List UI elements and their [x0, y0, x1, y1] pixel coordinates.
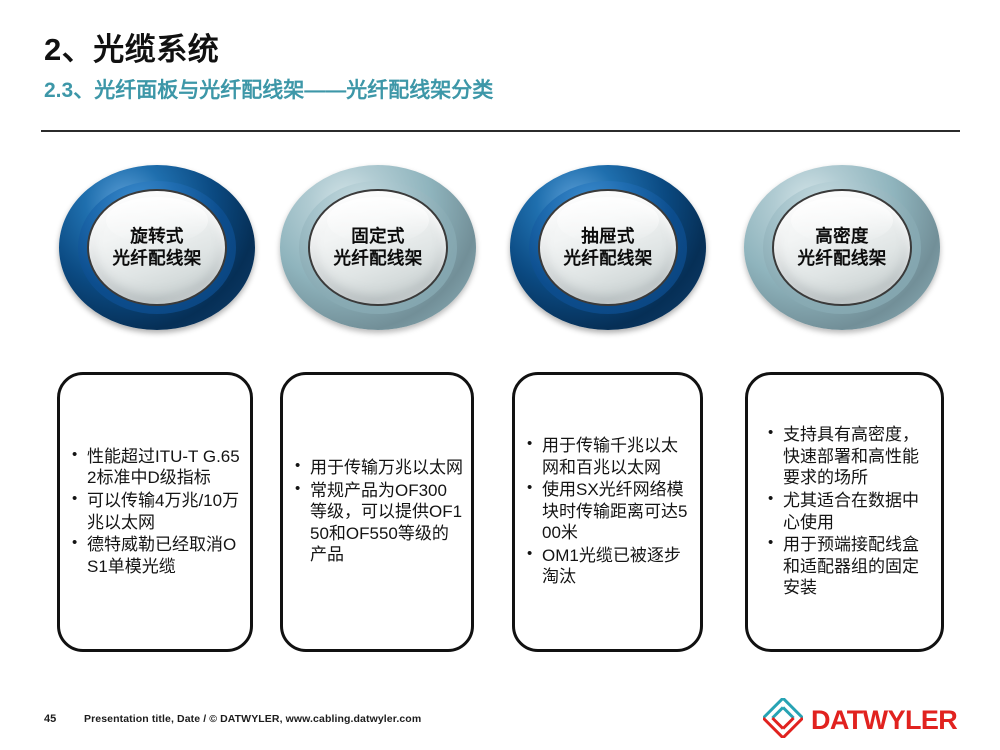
info-box-fixed: 用于传输万兆以太网 常规产品为OF300等级，可以提供OF150和OF550等级… [280, 372, 474, 652]
column-fixed: 固定式 光纤配线架 [278, 165, 478, 330]
column-drawer: 抽屉式 光纤配线架 [508, 165, 708, 330]
list-item: 性能超过ITU-T G.652标准中D级指标 [70, 446, 242, 489]
info-box-high-density: 支持具有高密度，快速部署和高性能要求的场所 尤其适合在数据中心使用 用于预端接配… [745, 372, 944, 652]
list-item: 支持具有高密度，快速部署和高性能要求的场所 [766, 424, 933, 489]
badge-circle-drawer[interactable]: 抽屉式 光纤配线架 [510, 165, 706, 330]
badge-label: 旋转式 光纤配线架 [113, 226, 202, 269]
list-item: OM1光缆已被逐步淘汰 [525, 545, 692, 588]
bullet-list: 用于传输万兆以太网 常规产品为OF300等级，可以提供OF150和OF550等级… [283, 457, 471, 567]
badge-core: 抽屉式 光纤配线架 [538, 189, 677, 306]
list-item: 用于传输千兆以太网和百兆以太网 [525, 435, 692, 478]
info-box-drawer: 用于传输千兆以太网和百兆以太网 使用SX光纤网络模块时传输距离可达500米 OM… [512, 372, 703, 652]
bullet-list: 用于传输千兆以太网和百兆以太网 使用SX光纤网络模块时传输距离可达500米 OM… [515, 435, 700, 589]
bullet-list: 支持具有高密度，快速部署和高性能要求的场所 尤其适合在数据中心使用 用于预端接配… [748, 424, 941, 600]
badge-core: 高密度 光纤配线架 [772, 189, 911, 306]
list-item: 常规产品为OF300等级，可以提供OF150和OF550等级的产品 [293, 480, 463, 566]
badge-core: 固定式 光纤配线架 [308, 189, 447, 306]
datwyler-diamond-icon [763, 698, 803, 743]
list-item: 尤其适合在数据中心使用 [766, 490, 933, 533]
list-item: 德特威勒已经取消OS1单模光缆 [70, 534, 242, 577]
list-item: 可以传输4万兆/10万兆以太网 [70, 490, 242, 533]
badge-core: 旋转式 光纤配线架 [87, 189, 226, 306]
datwyler-logo: DATWYLER [763, 698, 953, 742]
bullet-list: 性能超过ITU-T G.652标准中D级指标 可以传输4万兆/10万兆以太网 德… [60, 446, 250, 578]
badge-circle-rotary[interactable]: 旋转式 光纤配线架 [59, 165, 255, 330]
page-subtitle: 2.3、光纤面板与光纤配线架——光纤配线架分类 [44, 74, 493, 104]
badge-circle-fixed[interactable]: 固定式 光纤配线架 [280, 165, 476, 330]
list-item: 使用SX光纤网络模块时传输距离可达500米 [525, 479, 692, 544]
list-item: 用于预端接配线盒和适配器组的固定安装 [766, 534, 933, 599]
page-number: 45 [44, 713, 56, 725]
footer-text: Presentation title, Date / © DATWYLER, w… [84, 713, 421, 725]
datwyler-wordmark: DATWYLER [811, 707, 957, 734]
badge-label: 固定式 光纤配线架 [334, 226, 423, 269]
page-title: 2、光缆系统 [44, 24, 219, 69]
info-box-rotary: 性能超过ITU-T G.652标准中D级指标 可以传输4万兆/10万兆以太网 德… [57, 372, 253, 652]
column-rotary: 旋转式 光纤配线架 [57, 165, 257, 330]
list-item: 用于传输万兆以太网 [293, 457, 463, 479]
header-divider [41, 130, 960, 132]
badge-label: 高密度 光纤配线架 [798, 226, 887, 269]
badge-label: 抽屉式 光纤配线架 [564, 226, 653, 269]
column-high-density: 高密度 光纤配线架 [742, 165, 942, 330]
badge-circle-high-density[interactable]: 高密度 光纤配线架 [744, 165, 940, 330]
